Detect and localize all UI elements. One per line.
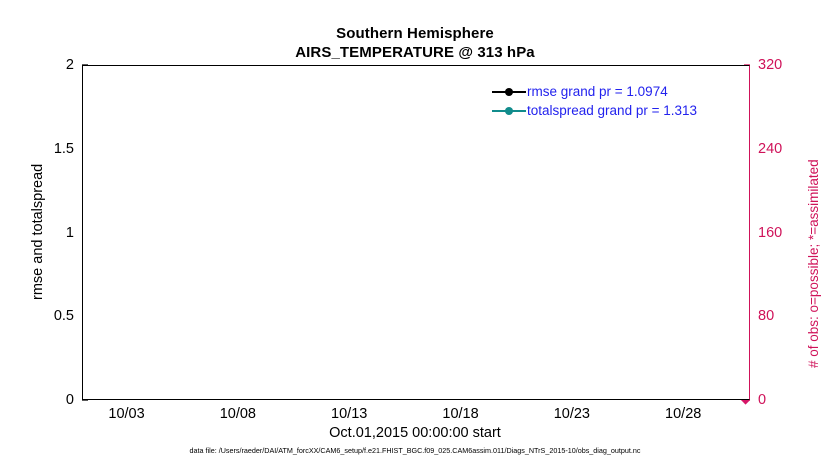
x-axis-label: Oct.01,2015 00:00:00 start <box>0 425 830 441</box>
data-file-note: data file: /Users/raeder/DAI/ATM_forcXX/… <box>0 446 830 455</box>
y-tick-right-0: 0 <box>758 392 818 408</box>
legend-label-rmse: rmse grand pr = 1.0974 <box>527 84 668 99</box>
y-axis-left-label: rmse and totalspread <box>30 164 46 300</box>
x-tick-2: 10/13 <box>309 406 389 422</box>
legend-marker-rmse <box>492 85 526 99</box>
legend-item-rmse[interactable]: rmse grand pr = 1.0974 <box>492 82 742 101</box>
y-tick-left-4: 2 <box>14 57 74 73</box>
x-tick-3: 10/18 <box>421 406 501 422</box>
y-tick-left-0: 0 <box>14 392 74 408</box>
x-tick-5: 10/28 <box>643 406 723 422</box>
y-tick-right-4: 320 <box>758 57 818 73</box>
legend-label-totalspread: totalspread grand pr = 1.313 <box>527 103 697 118</box>
x-tick-4: 10/23 <box>532 406 612 422</box>
legend-item-totalspread[interactable]: totalspread grand pr = 1.313 <box>492 101 742 120</box>
legend-marker-totalspread <box>492 104 526 118</box>
figure-root: Southern Hemisphere AIRS_TEMPERATURE @ 3… <box>0 0 830 470</box>
y-tick-right-3: 240 <box>758 141 818 157</box>
x-tick-0: 10/03 <box>87 406 167 422</box>
y-tick-left-3: 1.5 <box>14 141 74 157</box>
chart-legend: rmse grand pr = 1.0974 totalspread grand… <box>492 82 742 122</box>
x-tick-1: 10/08 <box>198 406 278 422</box>
y-tick-left-1: 0.5 <box>14 308 74 324</box>
y-axis-right-label: # of obs: o=possible; *=assimilated <box>806 159 821 368</box>
